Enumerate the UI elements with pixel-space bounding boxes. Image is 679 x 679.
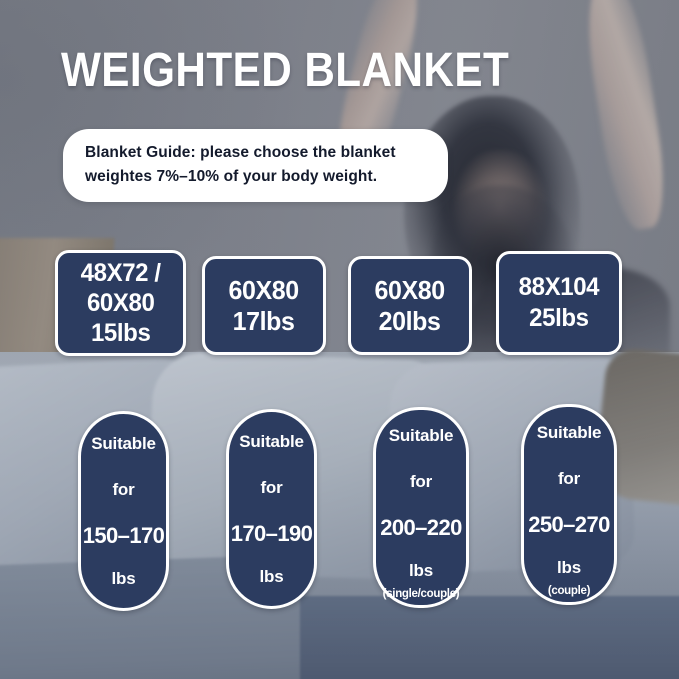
for-label: for xyxy=(558,456,580,502)
occupancy-note: (single/couple) xyxy=(383,587,460,601)
suitability-card: Suitable for 150–170 lbs xyxy=(78,411,169,611)
blanket-guide-box: Blanket Guide: please choose the blanket… xyxy=(63,129,448,202)
suitability-card: Suitable for 170–190 lbs xyxy=(226,409,317,609)
weight-unit-label: lbs xyxy=(112,559,136,599)
suitable-label: Suitable xyxy=(91,421,156,467)
size-line: 20lbs xyxy=(375,306,445,337)
size-card-lines: 60X80 20lbs xyxy=(375,275,445,337)
size-card-lines: 60X80 17lbs xyxy=(229,275,299,337)
weight-range-value: 170–190 xyxy=(231,511,312,557)
blanket-guide-text: Blanket Guide: please choose the blanket… xyxy=(85,141,426,189)
weight-unit-label: lbs xyxy=(260,557,284,597)
weight-range-value: 250–270 xyxy=(528,502,609,548)
size-card: 60X80 20lbs xyxy=(348,256,472,355)
size-card: 60X80 17lbs xyxy=(202,256,326,355)
size-line: 60X80 xyxy=(229,275,299,306)
size-card: 88X104 25lbs xyxy=(496,251,622,355)
occupancy-note: (couple) xyxy=(548,584,590,598)
suitable-label: Suitable xyxy=(537,410,602,456)
size-line: 48X72 / xyxy=(80,258,160,288)
for-label: for xyxy=(112,467,134,513)
weight-unit-label: lbs xyxy=(557,548,581,588)
for-label: for xyxy=(410,459,432,505)
size-card-lines: 48X72 / 60X80 15lbs xyxy=(80,258,160,348)
poster-content: WEIGHTED BLANKET Blanket Guide: please c… xyxy=(0,0,679,679)
weight-range-value: 150–170 xyxy=(83,513,164,559)
size-line: 17lbs xyxy=(229,306,299,337)
page-title: WEIGHTED BLANKET xyxy=(61,46,509,96)
suitable-label: Suitable xyxy=(389,413,454,459)
suitable-label: Suitable xyxy=(239,419,304,465)
weight-range-value: 200–220 xyxy=(380,505,461,551)
size-line: 25lbs xyxy=(519,303,599,334)
weight-unit-label: lbs xyxy=(409,551,433,591)
size-line: 60X80 xyxy=(80,288,160,318)
size-line: 88X104 xyxy=(519,272,599,303)
size-card: 48X72 / 60X80 15lbs xyxy=(55,250,186,356)
suitability-card: Suitable for 200–220 lbs (single/couple) xyxy=(373,407,469,608)
suitability-card: Suitable for 250–270 lbs (couple) xyxy=(521,404,617,605)
size-line: 60X80 xyxy=(375,275,445,306)
size-card-lines: 88X104 25lbs xyxy=(519,272,599,334)
size-line: 15lbs xyxy=(80,318,160,348)
weighted-blanket-poster: WEIGHTED BLANKET Blanket Guide: please c… xyxy=(0,0,679,679)
for-label: for xyxy=(260,465,282,511)
